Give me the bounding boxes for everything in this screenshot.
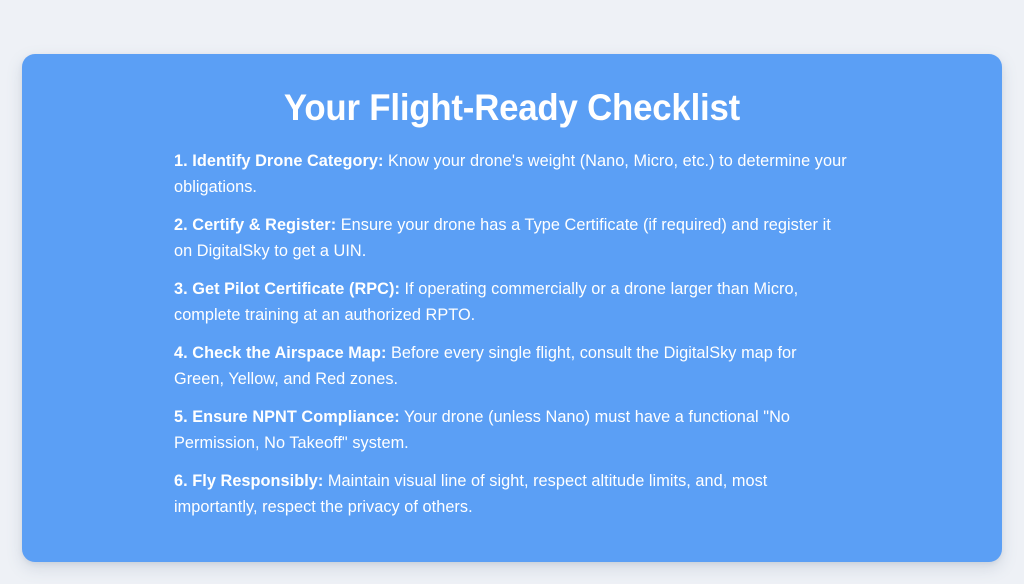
list-item-term: Check the Airspace Map: — [192, 344, 386, 362]
flight-ready-checklist-card: Your Flight-Ready Checklist 1. Identify … — [22, 54, 1002, 562]
list-item: 1. Identify Drone Category: Know your dr… — [174, 149, 850, 200]
list-item: 2. Certify & Register: Ensure your drone… — [174, 213, 850, 264]
list-item-index: 2. — [174, 216, 188, 234]
list-item-index: 4. — [174, 344, 188, 362]
list-item-term: Fly Responsibly: — [192, 472, 323, 490]
list-item-index: 1. — [174, 152, 188, 170]
checklist-list: 1. Identify Drone Category: Know your dr… — [174, 149, 850, 520]
list-item: 4. Check the Airspace Map: Before every … — [174, 341, 850, 392]
list-item: 5. Ensure NPNT Compliance: Your drone (u… — [174, 405, 850, 456]
list-item-term: Ensure NPNT Compliance: — [192, 408, 399, 426]
list-item-index: 3. — [174, 280, 188, 298]
list-item-term: Get Pilot Certificate (RPC): — [192, 280, 400, 298]
page-title: Your Flight-Ready Checklist — [51, 54, 972, 129]
list-item-term: Identify Drone Category: — [192, 152, 383, 170]
list-item: 3. Get Pilot Certificate (RPC): If opera… — [174, 277, 850, 328]
list-item-index: 6. — [174, 472, 188, 490]
list-item-term: Certify & Register: — [192, 216, 336, 234]
list-item: 6. Fly Responsibly: Maintain visual line… — [174, 469, 850, 520]
list-item-index: 5. — [174, 408, 188, 426]
page-root: Your Flight-Ready Checklist 1. Identify … — [0, 0, 1024, 584]
